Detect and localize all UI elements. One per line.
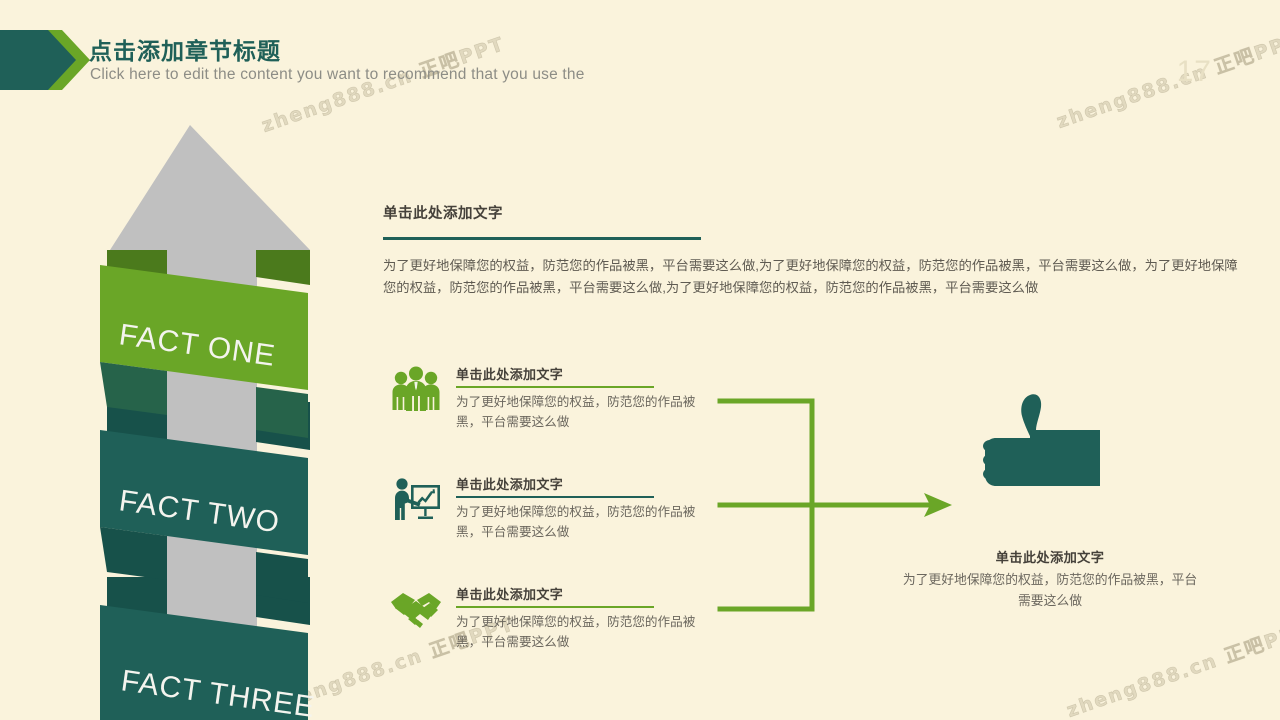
chevron-right-icon [0, 30, 90, 90]
page-subtitle: Click here to edit the content you want … [90, 66, 585, 84]
thumbs-up-icon [978, 390, 1108, 502]
feature-item-1[interactable]: 单击此处添加文字 为了更好地保障您的权益，防范您的作品被黑，平台需要这么做 [390, 364, 700, 454]
feature-divider [456, 496, 654, 498]
feature-title: 单击此处添加文字 [456, 584, 700, 603]
feature-divider [456, 606, 654, 608]
feature-text-2: 单击此处添加文字 为了更好地保障您的权益，防范您的作品被黑，平台需要这么做 [456, 474, 700, 543]
feature-description: 为了更好地保障您的权益，防范您的作品被黑，平台需要这么做 [456, 392, 700, 433]
handshake-icon [390, 586, 442, 634]
watermark: zheng888.cn 正吧PPT [1053, 25, 1280, 134]
presentation-chart-icon [390, 476, 442, 524]
result-description: 为了更好地保障您的权益，防范您的作品被黑，平台需要这么做 [900, 570, 1200, 611]
feature-divider [456, 386, 654, 388]
main-heading: 单击此处添加文字 [383, 202, 1243, 223]
feature-description: 为了更好地保障您的权益，防范您的作品被黑，平台需要这么做 [456, 502, 700, 543]
main-text-block: 单击此处添加文字 为了更好地保障您的权益，防范您的作品被黑，平台需要这么做,为了… [383, 202, 1243, 300]
main-divider [383, 237, 701, 240]
fact-ribbons-graphic: FACT THREE FACT TWO FACT ONE [60, 125, 420, 720]
feature-title: 单击此处添加文字 [456, 364, 700, 383]
feature-text-1: 单击此处添加文字 为了更好地保障您的权益，防范您的作品被黑，平台需要这么做 [456, 364, 700, 433]
feature-description: 为了更好地保障您的权益，防范您的作品被黑，平台需要这么做 [456, 612, 700, 653]
page-title: 点击添加章节标题 [89, 32, 281, 66]
result-text-block: 单击此处添加文字 为了更好地保障您的权益，防范您的作品被黑，平台需要这么做 [900, 547, 1200, 611]
people-group-icon [390, 366, 442, 414]
watermark: zheng888.cn 正吧PPT [1063, 614, 1280, 720]
feature-text-3: 单击此处添加文字 为了更好地保障您的权益，防范您的作品被黑，平台需要这么做 [456, 584, 700, 653]
feature-title: 单击此处添加文字 [456, 474, 700, 493]
feature-item-3[interactable]: 单击此处添加文字 为了更好地保障您的权益，防范您的作品被黑，平台需要这么做 [390, 584, 700, 674]
result-title: 单击此处添加文字 [900, 547, 1200, 566]
page-number: 17 [1177, 55, 1212, 89]
main-body-text: 为了更好地保障您的权益，防范您的作品被黑，平台需要这么做,为了更好地保障您的权益… [383, 255, 1239, 301]
feature-item-2[interactable]: 单击此处添加文字 为了更好地保障您的权益，防范您的作品被黑，平台需要这么做 [390, 474, 700, 564]
slide-canvas: zheng888.cn 正吧PPT zheng888.cn 正吧PPT zhen… [0, 0, 1280, 720]
